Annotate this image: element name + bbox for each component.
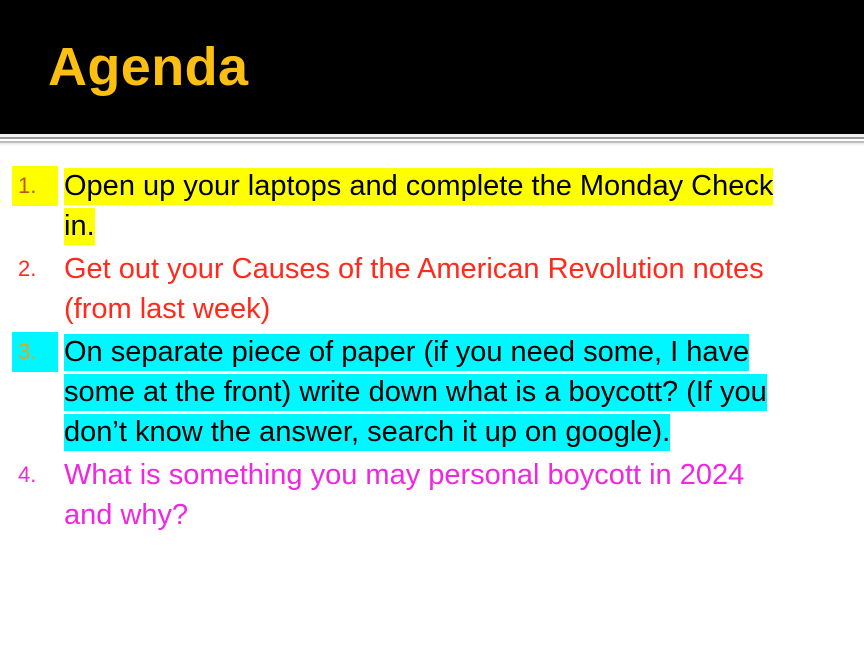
agenda-list: 1. Open up your laptops and complete the… xyxy=(0,166,864,535)
list-item: 2. Get out your Causes of the American R… xyxy=(0,249,864,329)
text-highlight: What is something you may personal boyco… xyxy=(64,457,744,534)
text-highlight: Open up your laptops and complete the Mo… xyxy=(64,168,773,245)
list-item-marker: 3. xyxy=(18,336,58,368)
list-item-text: Get out your Causes of the American Revo… xyxy=(64,249,864,329)
list-item-marker: 1. xyxy=(18,170,58,202)
list-item: 4. What is something you may personal bo… xyxy=(0,455,864,535)
text-highlight: On separate piece of paper (if you need … xyxy=(64,334,767,451)
page-title: Agenda xyxy=(48,40,248,94)
list-item-text: On separate piece of paper (if you need … xyxy=(64,332,864,452)
list-item: 3. On separate piece of paper (if you ne… xyxy=(0,332,864,452)
list-item-text: Open up your laptops and complete the Mo… xyxy=(64,166,864,246)
list-item: 1. Open up your laptops and complete the… xyxy=(0,166,864,246)
title-divider-shadow xyxy=(0,143,864,146)
list-item-marker: 2. xyxy=(18,253,58,285)
slide-body: 1. Open up your laptops and complete the… xyxy=(0,166,864,636)
text-highlight: Get out your Causes of the American Revo… xyxy=(64,251,764,328)
slide: Agenda 1. Open up your laptops and compl… xyxy=(0,0,864,648)
list-item-text: What is something you may personal boyco… xyxy=(64,455,864,535)
list-item-marker: 4. xyxy=(18,459,58,491)
